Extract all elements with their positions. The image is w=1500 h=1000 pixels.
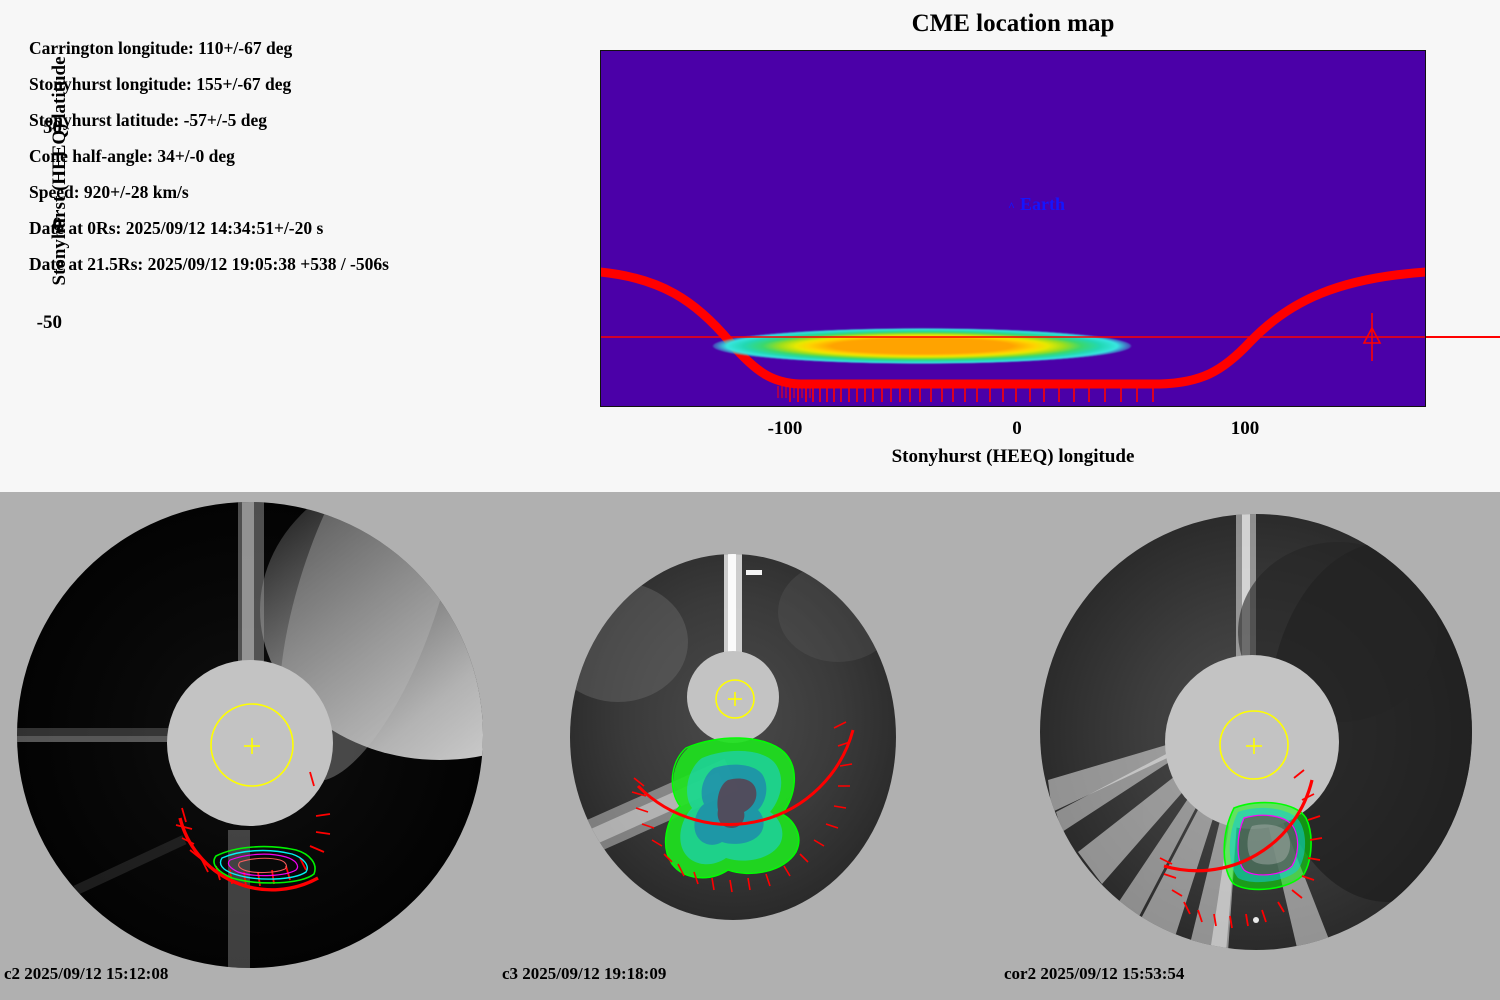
cme-center-crosshair [600, 50, 1426, 407]
x-tick-0: 0 [972, 418, 1062, 440]
param-carrington-longitude: Carrington longitude: 110+/-67 deg [29, 30, 499, 66]
param-date-21-5rs: Date at 21.5Rs: 2025/09/12 19:05:38 +538… [29, 246, 499, 282]
param-stonyhurst-latitude: Stonyhurst latitude: -57+/-5 deg [29, 102, 499, 138]
cor2-image-content [1038, 512, 1474, 952]
x-tick-100: 100 [1200, 418, 1290, 440]
c2-image-content [10, 500, 490, 970]
param-speed: Speed: 920+/-28 km/s [29, 174, 499, 210]
c3-occulter [687, 651, 779, 743]
param-stonyhurst-longitude: Stonyhurst longitude: 155+/-67 deg [29, 66, 499, 102]
param-date-0rs: Date at 0Rs: 2025/09/12 14:34:51+/-20 s [29, 210, 499, 246]
chart-title: CME location map [600, 10, 1426, 38]
coronagraph-label-c2: c2 2025/09/12 15:12:08 [4, 964, 168, 984]
coronagraph-image-cor2[interactable] [1038, 512, 1474, 952]
x-tick-m100: -100 [740, 418, 830, 440]
coronagraph-label-c3: c3 2025/09/12 19:18:09 [502, 964, 666, 984]
crosshair-extension-line [1426, 336, 1500, 338]
cme-parameter-list: Carrington longitude: 110+/-67 deg Stony… [29, 30, 499, 282]
c2-occulter [167, 660, 333, 826]
c3-cme-contours [666, 738, 799, 878]
y-axis-label: Stonyhurst (HEEQ) latitude [49, 0, 71, 351]
x-axis-label: Stonyhurst (HEEQ) longitude [600, 446, 1426, 468]
c3-image-content [568, 552, 898, 922]
top-panel: Carrington longitude: 110+/-67 deg Stony… [0, 0, 1500, 492]
coronagraph-image-c2[interactable] [10, 500, 490, 970]
coronagraph-label-cor2: cor2 2025/09/12 15:53:54 [1004, 964, 1184, 984]
y-tick-m50: -50 [2, 312, 62, 334]
coronagraph-image-c3[interactable] [568, 552, 898, 922]
cme-location-map-plot[interactable]: ^ Earth [600, 50, 1426, 407]
param-cone-half-angle: Cone half-angle: 34+/-0 deg [29, 138, 499, 174]
y-tick-0: 0 [2, 214, 62, 236]
y-tick-50: 50 [2, 117, 62, 139]
coronagraph-panel: c2 2025/09/12 15:12:08 [0, 492, 1500, 1000]
